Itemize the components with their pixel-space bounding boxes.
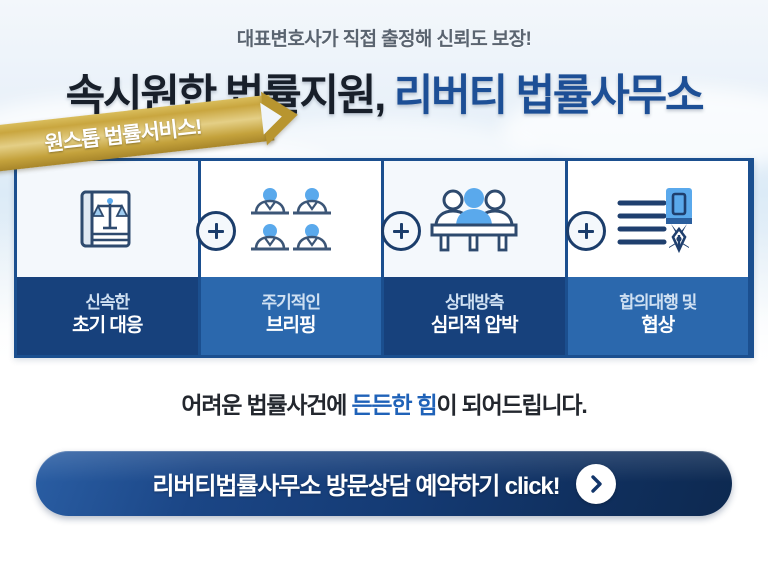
service-label-top: 합의대행 및 bbox=[619, 293, 696, 313]
service-label-top: 상대방측 bbox=[445, 293, 504, 313]
headline-part-brand: 리버티 법률사무소 bbox=[394, 72, 703, 120]
tagline: 어려운 법률사건에 든든한 힘이 되어드립니다. bbox=[0, 386, 768, 420]
tagline-after: 이 되어드립니다. bbox=[436, 392, 586, 418]
tagline-highlight: 든든한 힘 bbox=[351, 392, 436, 418]
service-label-pane: 신속한 초기 대응 bbox=[17, 277, 198, 355]
plus-connector-icon bbox=[196, 211, 236, 251]
cta-label: 리버티법률사무소 방문상담 예약하기 click! bbox=[152, 466, 559, 501]
service-column-briefing: 주기적인 브리핑 bbox=[201, 161, 385, 355]
service-label-bottom: 협상 bbox=[641, 315, 674, 337]
document-fountain-pen-icon bbox=[614, 185, 702, 253]
service-label-top: 신속한 bbox=[85, 293, 129, 313]
promo-banner: 대표변호사가 직접 출정해 신뢰도 보장! 속시원한 법률지원, 리버티 법률사… bbox=[0, 0, 768, 561]
service-label-top: 주기적인 bbox=[261, 293, 320, 313]
service-label-bottom: 브리핑 bbox=[266, 315, 315, 337]
cta-reservation-button[interactable]: 리버티법률사무소 방문상담 예약하기 click! bbox=[36, 451, 732, 516]
service-steps-card: 신속한 초기 대응 bbox=[14, 158, 754, 358]
header-subtitle: 대표변호사가 직접 출정해 신뢰도 보장! bbox=[0, 24, 768, 51]
four-people-group-icon bbox=[248, 186, 334, 252]
chevron-right-icon bbox=[576, 464, 616, 504]
service-label-pane: 합의대행 및 협상 bbox=[568, 277, 749, 355]
plus-connector-icon bbox=[566, 211, 606, 251]
negotiation-table-icon bbox=[428, 185, 520, 253]
service-column-initial-response: 신속한 초기 대응 bbox=[17, 161, 201, 355]
tagline-before: 어려운 법률사건에 bbox=[181, 392, 351, 418]
icon-pane bbox=[17, 161, 198, 277]
service-column-pressure: 상대방측 심리적 압박 bbox=[384, 161, 568, 355]
service-label-bottom: 심리적 압박 bbox=[431, 315, 518, 337]
plus-connector-icon bbox=[381, 211, 421, 251]
service-label-pane: 주기적인 브리핑 bbox=[201, 277, 382, 355]
law-book-scales-icon bbox=[76, 186, 138, 252]
service-label-pane: 상대방측 심리적 압박 bbox=[384, 277, 565, 355]
service-column-settlement: 합의대행 및 협상 bbox=[568, 161, 752, 355]
service-label-bottom: 초기 대응 bbox=[72, 315, 142, 337]
